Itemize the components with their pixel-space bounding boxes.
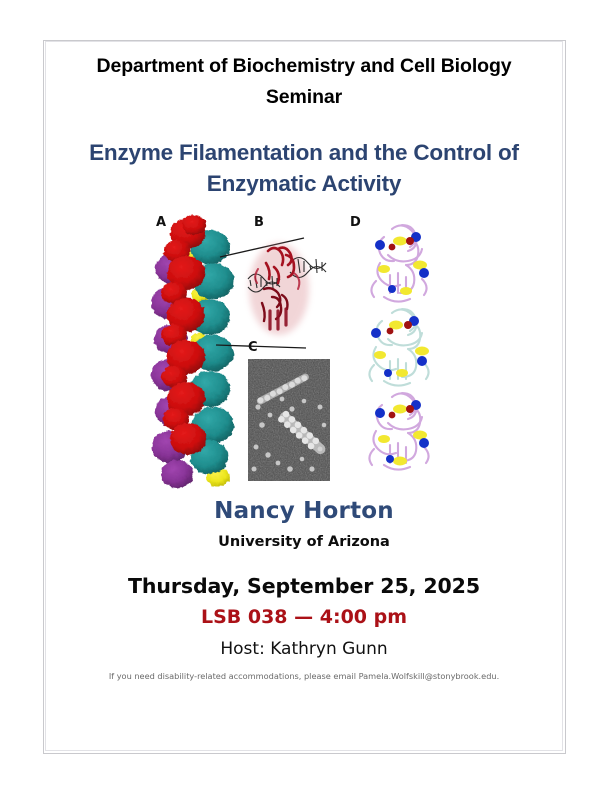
panel-a-surface-filament [151, 215, 234, 488]
speaker-name: Nancy Horton [45, 496, 563, 526]
seminar-title-line1: Enzyme Filamentation and the Control of [45, 137, 563, 168]
page-title: Enzyme Filamentation and the Control of … [45, 137, 563, 199]
event-details: Nancy Horton University of Arizona Thurs… [45, 496, 563, 682]
scientific-figure: A B C D [144, 211, 464, 496]
panel-label-c: C [248, 340, 258, 355]
poster-content: Department of Biochemistry and Cell Biol… [45, 41, 563, 751]
figure-svg [144, 211, 464, 496]
panel-d-cartoon-filament [369, 225, 429, 470]
event-date: Thursday, September 25, 2025 [45, 573, 563, 600]
poster-page: Department of Biochemistry and Cell Biol… [0, 0, 612, 792]
figure-block: A B C D [45, 211, 563, 496]
panel-label-a: A [156, 215, 166, 230]
department-header-line2: Seminar [45, 82, 563, 113]
accessibility-note: If you need disability-related accommoda… [45, 670, 563, 682]
panel-label-b: B [254, 215, 264, 230]
speaker-affiliation: University of Arizona [45, 532, 563, 552]
department-header-line1: Department of Biochemistry and Cell Biol… [45, 51, 563, 82]
event-host: Host: Kathryn Gunn [45, 638, 563, 661]
panel-c-electron-micrograph [248, 359, 330, 481]
event-location-time: LSB 038 — 4:00 pm [45, 605, 563, 630]
panel-b-ribbon-dna [248, 243, 326, 335]
panel-label-d: D [350, 215, 361, 230]
highlighted-residues [371, 232, 429, 466]
department-header: Department of Biochemistry and Cell Biol… [45, 41, 563, 113]
seminar-title-line2: Enzymatic Activity [45, 168, 563, 199]
